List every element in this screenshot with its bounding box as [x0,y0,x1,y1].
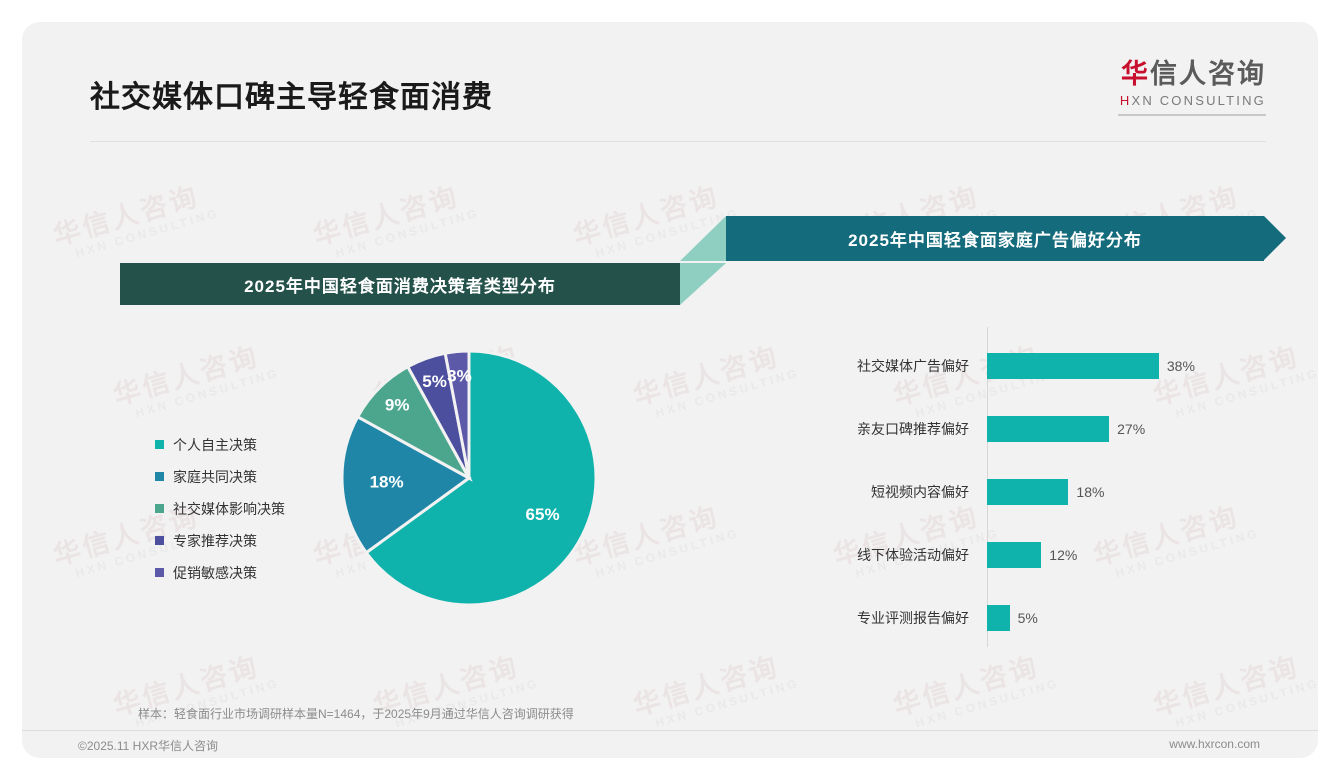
bar-fill[interactable] [987,542,1041,568]
watermark-tile: 华信人咨询HXN CONSULTING [628,640,801,735]
bar-fill[interactable] [987,416,1109,442]
bar-category-label: 专业评测报告偏好 [782,608,978,628]
bar-value-label: 27% [1117,421,1145,437]
legend-swatch-icon [155,536,164,545]
watermark-tile: 华信人咨询HXN CONSULTING [48,170,221,265]
watermark-tile: 华信人咨询HXN CONSULTING [888,640,1061,735]
bar-category-label: 短视频内容偏好 [782,482,978,502]
bar-chart-row[interactable]: 专业评测报告偏好5% [782,605,1252,631]
logo-en-gray: XN CONSULTING [1131,93,1266,108]
watermark-tile: 华信人咨询HXN CONSULTING [308,170,481,265]
header-divider [90,141,1266,142]
logo-cn-red: 华 [1121,59,1150,89]
logo-underline [1118,114,1266,116]
watermark-tile: 华信人咨询HXN CONSULTING [1148,640,1318,735]
legend-item-label: 家庭共同决策 [173,467,257,487]
copyright-text: ©2025.11 HXR华信人咨询 [78,737,218,754]
brand-logo: 华信人咨询 HXN CONSULTING [1118,60,1266,116]
bar-fill[interactable] [987,605,1010,631]
bar-fill[interactable] [987,479,1068,505]
bar-fill[interactable] [987,353,1159,379]
bar-value-label: 12% [1049,547,1077,563]
logo-en-red: H [1120,93,1132,108]
slide-header: 社交媒体口碑主导轻食面消费 华信人咨询 HXN CONSULTING [22,22,1318,127]
pie-chart-svg: 65%18%9%5%3% [340,349,598,607]
pie-slice-label: 3% [447,366,472,385]
legend-item-label: 个人自主决策 [173,435,257,455]
legend-swatch-icon [155,440,164,449]
legend-item-label: 专家推荐决策 [173,531,257,551]
banner-left-chart-title: 2025年中国轻食面消费决策者类型分布 [120,263,680,305]
bar-category-label: 社交媒体广告偏好 [782,356,978,376]
bar-category-label: 线下体验活动偏好 [782,545,978,565]
slide-canvas: 华信人咨询HXN CONSULTING华信人咨询HXN CONSULTING华信… [22,22,1318,758]
bar-category-label: 亲友口碑推荐偏好 [782,419,978,439]
bar-chart-row[interactable]: 社交媒体广告偏好38% [782,353,1252,379]
pie-slice-label: 5% [422,372,447,391]
legend-swatch-icon [155,568,164,577]
page-title: 社交媒体口碑主导轻食面消费 [90,72,493,116]
legend-item[interactable]: 专家推荐决策 [155,527,285,554]
slide-footer: ©2025.11 HXR华信人咨询 www.hxrcon.com [22,731,1318,758]
bar-chart-row[interactable]: 短视频内容偏好18% [782,479,1252,505]
legend-swatch-icon [155,472,164,481]
bar-chart: 社交媒体广告偏好38%亲友口碑推荐偏好27%短视频内容偏好18%线下体验活动偏好… [782,327,1252,647]
pie-slice-label: 9% [385,396,410,415]
bar-value-label: 5% [1018,610,1038,626]
website-link[interactable]: www.hxrcon.com [1169,737,1260,751]
legend-item[interactable]: 家庭共同决策 [155,463,285,490]
legend-item[interactable]: 个人自主决策 [155,431,285,458]
pie-chart-legend: 个人自主决策家庭共同决策社交媒体影响决策专家推荐决策促销敏感决策 [155,431,285,591]
bar-value-label: 18% [1076,484,1104,500]
banner-left-label: 2025年中国轻食面消费决策者类型分布 [244,272,556,297]
pie-slice-label: 65% [526,505,560,524]
legend-item[interactable]: 促销敏感决策 [155,559,285,586]
sample-note: 样本：轻食面行业市场调研样本量N=1464，于2025年9月通过华信人咨询调研获… [138,705,574,722]
legend-item[interactable]: 社交媒体影响决策 [155,495,285,522]
banner-right-chart-title: 2025年中国轻食面家庭广告偏好分布 [726,216,1264,261]
watermark-tile: 华信人咨询HXN CONSULTING [108,330,281,425]
legend-item-label: 促销敏感决策 [173,563,257,583]
bar-chart-row[interactable]: 亲友口碑推荐偏好27% [782,416,1252,442]
legend-swatch-icon [155,504,164,513]
bar-value-label: 38% [1167,358,1195,374]
pie-slice-label: 18% [370,473,404,492]
logo-english: HXN CONSULTING [1118,93,1266,108]
bar-chart-row[interactable]: 线下体验活动偏好12% [782,542,1252,568]
pie-chart: 65%18%9%5%3% [340,349,598,607]
logo-cn-gray: 信人咨询 [1150,59,1266,89]
legend-item-label: 社交媒体影响决策 [173,499,285,519]
logo-chinese: 华信人咨询 [1118,60,1266,88]
watermark-tile: 华信人咨询HXN CONSULTING [628,330,801,425]
banner-right-label: 2025年中国轻食面家庭广告偏好分布 [848,226,1142,251]
